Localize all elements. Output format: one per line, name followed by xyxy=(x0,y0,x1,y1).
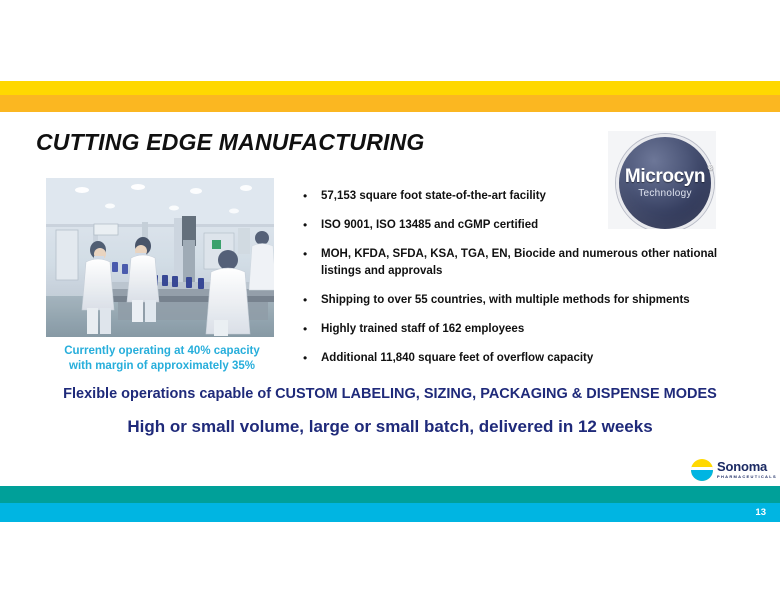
page-title: CUTTING EDGE MANUFACTURING xyxy=(36,129,425,156)
tagline-secondary: High or small volume, large or small bat… xyxy=(0,417,780,437)
sonoma-logo-name: Sonoma xyxy=(717,460,777,473)
presentation-slide: CUTTING EDGE MANUFACTURING Microcyn® Tec… xyxy=(0,0,780,602)
list-item: • Additional 11,840 square feet of overf… xyxy=(303,350,743,367)
list-item: • Highly trained staff of 162 employees xyxy=(303,321,743,338)
photo-caption-line-2: with margin of approximately 35% xyxy=(46,359,278,374)
bullet-icon: • xyxy=(303,321,321,338)
bullet-icon: • xyxy=(303,188,321,205)
list-item: • 57,153 square foot state-of-the-art fa… xyxy=(303,188,743,205)
sonoma-logo-icon-bottom xyxy=(691,470,713,480)
microcyn-logo-word-text: Microcyn xyxy=(625,166,705,187)
photo-caption-line-1: Currently operating at 40% capacity xyxy=(46,344,278,359)
facility-photo-image xyxy=(46,178,274,337)
header-band-amber xyxy=(0,95,780,112)
tagline-primary: Flexible operations capable of CUSTOM LA… xyxy=(0,386,780,402)
header-band-yellow xyxy=(0,81,780,95)
list-item: • Shipping to over 55 countries, with mu… xyxy=(303,292,743,309)
sonoma-logo-icon xyxy=(691,459,713,481)
list-item-label: ISO 9001, ISO 13485 and cGMP certified xyxy=(321,217,743,234)
photo-caption: Currently operating at 40% capacity with… xyxy=(46,344,278,374)
footer-band-cyan xyxy=(0,503,780,522)
list-item-label: 57,153 square foot state-of-the-art faci… xyxy=(321,188,743,205)
list-item: • MOH, KFDA, SFDA, KSA, TGA, EN, Biocide… xyxy=(303,246,743,280)
list-item-label: Additional 11,840 square feet of overflo… xyxy=(321,350,743,367)
bullet-icon: • xyxy=(303,217,321,234)
bullet-list: • 57,153 square foot state-of-the-art fa… xyxy=(303,188,743,379)
list-item-label: MOH, KFDA, SFDA, KSA, TGA, EN, Biocide a… xyxy=(321,246,743,280)
sonoma-logo-tagline: PHARMACEUTICALS xyxy=(717,475,777,479)
facility-photo xyxy=(46,178,274,337)
bullet-icon: • xyxy=(303,350,321,367)
footer-band-teal xyxy=(0,486,780,503)
bullet-icon: • xyxy=(303,292,321,309)
list-item: • ISO 9001, ISO 13485 and cGMP certified xyxy=(303,217,743,234)
microcyn-logo-wordmark: Microcyn® xyxy=(625,167,705,186)
list-item-label: Shipping to over 55 countries, with mult… xyxy=(321,292,743,309)
sonoma-logo-text: Sonoma PHARMACEUTICALS xyxy=(717,460,777,479)
list-item-label: Highly trained staff of 162 employees xyxy=(321,321,743,338)
sonoma-logo: Sonoma PHARMACEUTICALS xyxy=(691,457,771,482)
registered-trademark-icon: ® xyxy=(708,164,714,172)
bullet-icon: • xyxy=(303,246,321,263)
page-number: 13 xyxy=(755,507,766,518)
